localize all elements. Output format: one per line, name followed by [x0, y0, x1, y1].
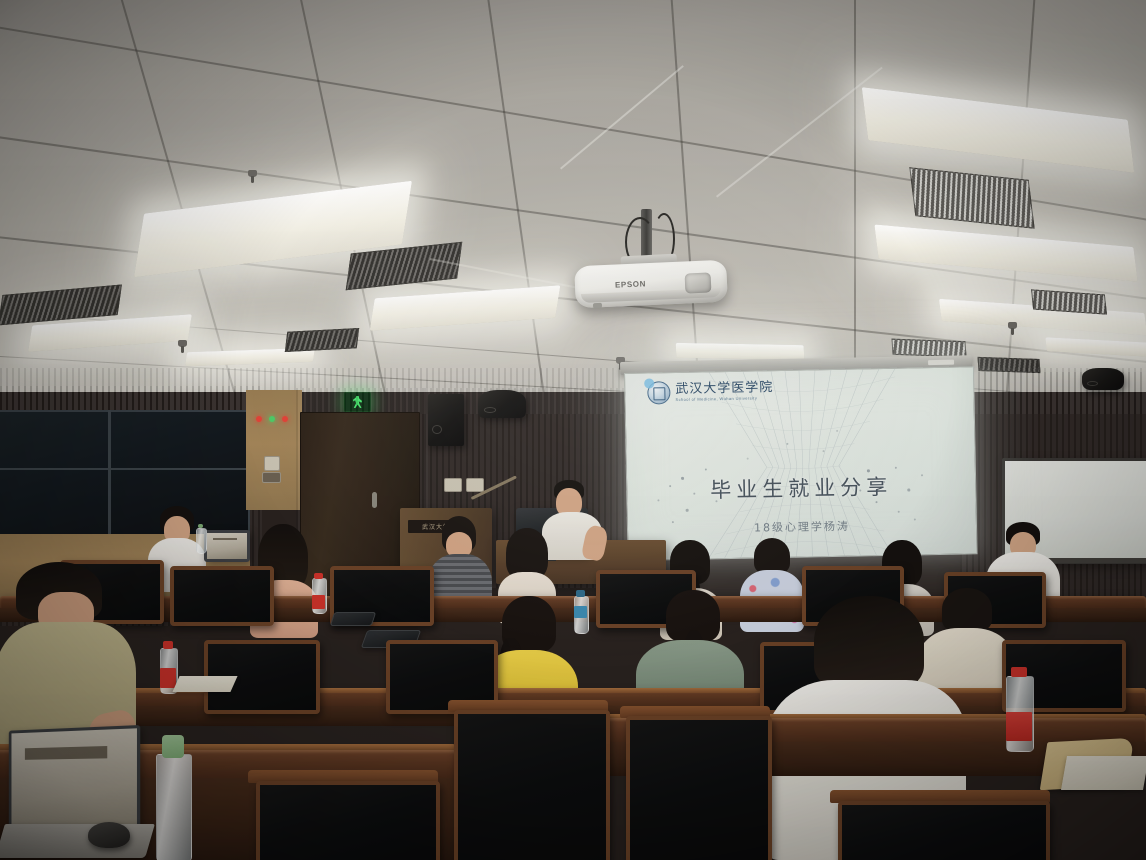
- water-bottle-green-cap-front[interactable]: [156, 754, 190, 860]
- air-vent: [891, 339, 966, 358]
- computer-mouse[interactable]: [88, 822, 130, 848]
- projector-foot: [593, 303, 602, 308]
- chair-back: [454, 710, 610, 860]
- ceiling-light-panel: [862, 87, 1135, 173]
- bottle-body: [156, 754, 192, 860]
- wall-indicator-lights: [256, 416, 288, 422]
- logo-text-block: 武汉大学医学院 School of Medicine, Wuhan Univer…: [675, 381, 773, 402]
- bottle-label: [1006, 712, 1032, 742]
- logo-chinese-name: 武汉大学医学院: [675, 381, 773, 396]
- handout-paper-front[interactable]: [1061, 756, 1146, 790]
- ceiling-light-panel: [1045, 337, 1146, 357]
- laptop-document: [213, 538, 237, 541]
- chair-back: [626, 716, 772, 860]
- air-vent: [285, 328, 359, 352]
- chair-back: [256, 781, 440, 860]
- suspended-ceiling: EPSON: [0, 0, 1146, 392]
- projector-lens: [685, 272, 712, 293]
- indicator-led-green: [269, 416, 275, 422]
- laptop-screen: [9, 725, 140, 837]
- hair: [814, 596, 924, 690]
- university-crest-icon: [647, 381, 670, 404]
- epson-projector: EPSON: [575, 257, 727, 312]
- logo-english-name: School of Medicine, Wuhan University: [675, 396, 773, 402]
- ceiling-light-panel: [874, 224, 1137, 281]
- bottle-cap-green: [162, 735, 184, 758]
- ceiling-light-panel: [676, 343, 805, 360]
- ceiling-light-panel: [370, 285, 561, 330]
- chair-foreground[interactable]: [248, 770, 438, 860]
- bottle-label: [160, 668, 176, 688]
- wall-pillar: [246, 390, 302, 510]
- wall-socket-plate[interactable]: [262, 472, 281, 483]
- sprinkler-head: [248, 170, 257, 177]
- wall-socket-plate[interactable]: [466, 478, 484, 492]
- chair-back: [170, 566, 274, 626]
- laptop-screen: [204, 530, 250, 562]
- tablet-device[interactable]: [330, 612, 377, 626]
- wall-speaker: [428, 394, 464, 446]
- projection-screen: 武汉大学医学院 School of Medicine, Wuhan Univer…: [624, 366, 978, 561]
- ceiling-wire: [560, 65, 684, 169]
- water-bottle-red-label[interactable]: [160, 648, 176, 692]
- lecture-hall-photo: EPSON: [0, 0, 1146, 860]
- indicator-led-red: [282, 416, 288, 422]
- water-bottle-green-cap[interactable]: [196, 528, 205, 552]
- wall-speaker: [478, 390, 526, 418]
- handout-paper[interactable]: [172, 676, 237, 692]
- bottle-cap: [1011, 667, 1028, 677]
- wall-switch-plate[interactable]: [264, 456, 280, 471]
- laptop-back-left[interactable]: [204, 530, 248, 560]
- window-mullion: [0, 468, 246, 470]
- wall-speaker: [1082, 368, 1124, 390]
- bottle-cap: [314, 573, 322, 579]
- laptop-keyboard[interactable]: [0, 824, 155, 858]
- sprinkler-head: [178, 340, 187, 347]
- indicator-led-red: [256, 416, 262, 422]
- chair-foreground[interactable]: [620, 706, 770, 860]
- bottle-body: [196, 528, 207, 554]
- sprinkler-head: [1008, 322, 1017, 329]
- chair[interactable]: [170, 566, 266, 622]
- bottle-cap: [163, 641, 173, 649]
- water-bottle-red-label[interactable]: [312, 578, 325, 612]
- door-handle[interactable]: [372, 492, 377, 508]
- wall-socket-plate[interactable]: [444, 478, 462, 492]
- chair-foreground[interactable]: [830, 790, 1050, 860]
- water-bottle-red-label-front[interactable]: [1006, 676, 1032, 750]
- projector-brand-label: EPSON: [615, 279, 646, 289]
- slide-university-logo: 武汉大学医学院 School of Medicine, Wuhan Univer…: [647, 379, 773, 404]
- hair: [754, 538, 790, 574]
- window-mullion: [108, 410, 111, 536]
- chair-foreground[interactable]: [448, 700, 608, 860]
- bottle-label: [312, 595, 325, 609]
- laptop-document: [25, 746, 107, 760]
- window: [0, 410, 250, 540]
- chair-back: [838, 801, 1050, 860]
- ceiling-wire: [716, 67, 883, 198]
- air-vent: [909, 167, 1034, 228]
